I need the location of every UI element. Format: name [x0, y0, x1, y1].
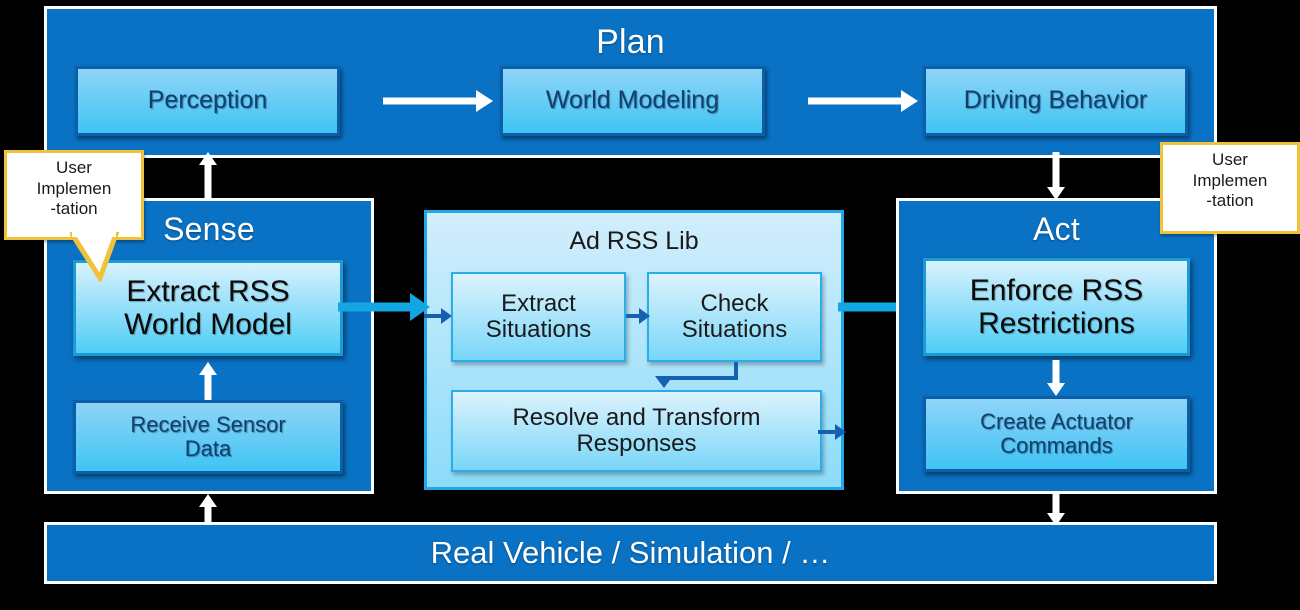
- lib-box-check-line1: Check: [700, 291, 768, 317]
- callout-sense-line3: -tation: [7, 199, 141, 220]
- arrow-plan-to-act: [1046, 152, 1066, 200]
- plan-box-driving-behavior[interactable]: Driving Behavior: [923, 66, 1188, 136]
- act-box-enforce-line1: Enforce RSS: [970, 274, 1143, 307]
- real-vehicle-simulation-band: Real Vehicle / Simulation / …: [44, 522, 1217, 584]
- callout-act-line2: Implemen: [1163, 171, 1297, 192]
- lib-box-resolve-line2: Responses: [576, 431, 696, 457]
- arrow-world-modeling-to-driving-behavior: [808, 90, 918, 112]
- sense-box-receive-line1: Receive Sensor: [130, 413, 285, 437]
- ad-rss-lib-title: Ad RSS Lib: [427, 227, 841, 256]
- arrow-enforce-to-create-actuator: [1046, 360, 1066, 396]
- lib-box-resolve-and-transform-responses[interactable]: Resolve and Transform Responses: [451, 390, 822, 472]
- lib-box-resolve-line1: Resolve and Transform: [512, 405, 760, 431]
- act-box-create-line1: Create Actuator: [980, 410, 1133, 434]
- callout-sense-tail: [70, 232, 130, 282]
- act-box-enforce-rss-restrictions[interactable]: Enforce RSS Restrictions: [923, 258, 1190, 356]
- arrow-check-to-resolve: [630, 362, 750, 392]
- callout-act-line3: -tation: [1163, 191, 1297, 212]
- bottom-band-label: Real Vehicle / Simulation / …: [431, 535, 831, 571]
- act-box-enforce-line2: Restrictions: [978, 307, 1135, 340]
- diagram-canvas: Plan Perception World Modeling Driving B…: [0, 0, 1300, 610]
- act-box-create-line2: Commands: [1000, 434, 1112, 458]
- plan-box-perception[interactable]: Perception: [75, 66, 340, 136]
- lib-box-extract-line1: Extract: [501, 291, 576, 317]
- lib-box-extract-situations[interactable]: Extract Situations: [451, 272, 626, 362]
- sense-box-extract-line2: World Model: [124, 308, 292, 341]
- arrow-perception-to-world-modeling: [383, 90, 493, 112]
- plan-box-world-modeling[interactable]: World Modeling: [500, 66, 765, 136]
- lib-box-check-situations[interactable]: Check Situations: [647, 272, 822, 362]
- callout-sense-user-implementation: User Implemen -tation: [4, 150, 144, 240]
- sense-box-receive-line2: Data: [185, 437, 231, 461]
- arrow-sense-to-plan: [198, 152, 218, 200]
- arrow-extract-to-check-situations: [626, 308, 650, 324]
- lib-box-check-line2: Situations: [682, 317, 787, 343]
- callout-act-user-implementation: User Implemen -tation: [1160, 142, 1300, 234]
- lib-box-extract-line2: Situations: [486, 317, 591, 343]
- callout-sense-line1: User: [7, 158, 141, 179]
- arrow-resolve-out-right: [818, 424, 846, 440]
- act-box-create-actuator-commands[interactable]: Create Actuator Commands: [923, 396, 1190, 472]
- plan-title: Plan: [47, 23, 1214, 62]
- arrow-sense-to-ad-rss-lib: [338, 292, 430, 322]
- arrow-receive-sensor-to-extract: [198, 362, 218, 400]
- sense-box-receive-sensor-data[interactable]: Receive Sensor Data: [73, 400, 343, 474]
- callout-act-line1: User: [1163, 150, 1297, 171]
- callout-sense-line2: Implemen: [7, 179, 141, 200]
- sense-box-extract-line1: Extract RSS: [126, 275, 289, 308]
